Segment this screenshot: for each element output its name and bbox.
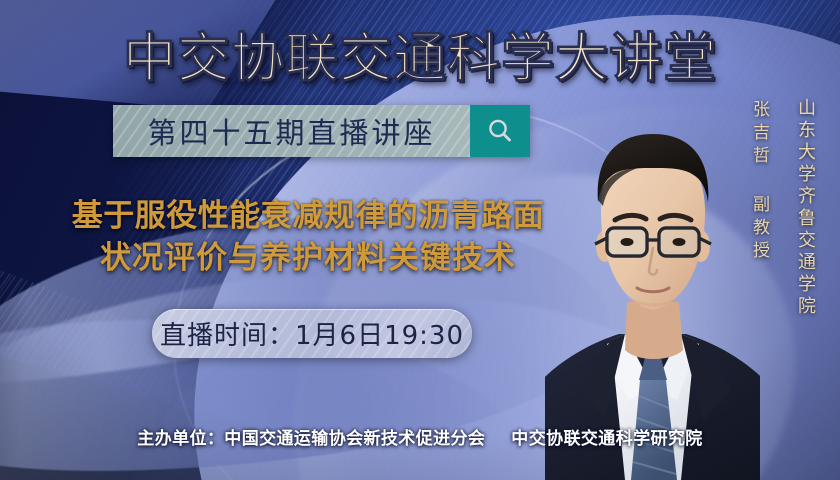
speaker-name-title: 张吉哲 副教授 [747,100,772,264]
topic-title-line-2: 状况评价与养护材料关键技术 [28,238,588,280]
organizer-name-2: 中交协联交通科学研究院 [511,429,702,449]
webinar-poster: 中交协联交通科学大讲堂 第四十五期直播讲座 基于服役性能衰减规律的沥青路面 状况… [0,0,840,480]
episode-banner: 第四十五期直播讲座 [113,105,530,157]
schedule-badge: 直播时间：1月6日19:30 [152,309,472,358]
organizer-footer: 主办单位：中国交通运输协会新技术促进分会中交协联交通科学研究院 [0,424,840,449]
page-title: 中交协联交通科学大讲堂 [0,16,840,92]
topic-title: 基于服役性能衰减规律的沥青路面 状况评价与养护材料关键技术 [28,196,588,279]
speaker-affiliation: 山东大学齐鲁交通学院 [792,98,818,318]
search-icon-box[interactable] [470,105,530,157]
organizer-name-1: 中国交通运输协会新技术促进分会 [224,429,485,449]
organizer-prefix: 主办单位： [137,429,224,449]
episode-banner-body: 第四十五期直播讲座 [113,105,470,157]
schedule-text: 直播时间：1月6日19:30 [160,315,464,352]
episode-label: 第四十五期直播讲座 [147,110,435,152]
search-icon [485,116,515,146]
speaker-portrait [545,88,760,480]
topic-title-line-1: 基于服役性能衰减规律的沥青路面 [28,196,588,238]
